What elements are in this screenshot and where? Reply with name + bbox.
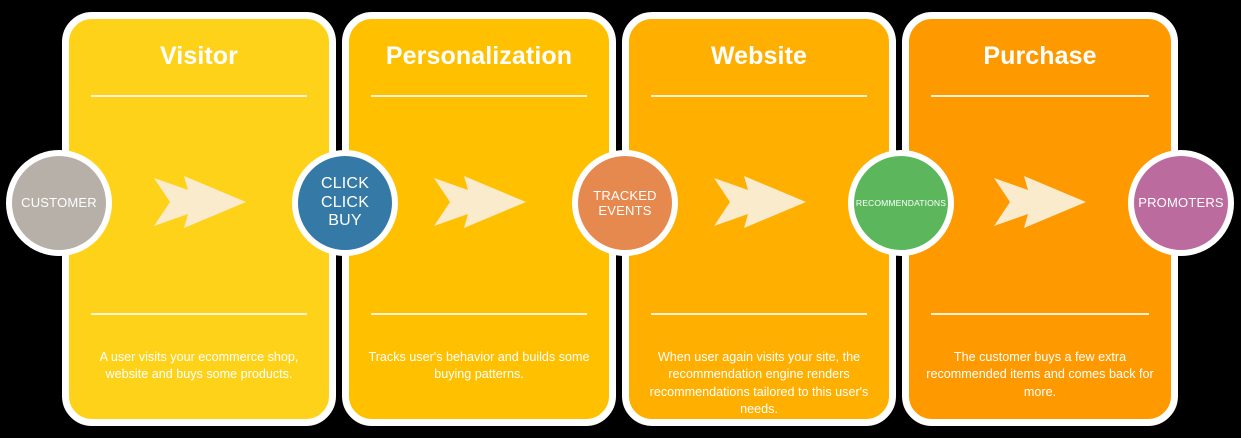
panel-description: When user again visits your site, the re… bbox=[641, 349, 877, 419]
node-label: PROMOTERS bbox=[1134, 195, 1228, 210]
flow-arrow-icon bbox=[148, 166, 252, 238]
panel-description: A user visits your ecommerce shop, websi… bbox=[81, 349, 317, 384]
divider-top bbox=[371, 95, 587, 97]
panel-title: Purchase bbox=[909, 43, 1171, 71]
divider-top bbox=[931, 95, 1149, 97]
divider-bottom bbox=[931, 313, 1149, 315]
node-label: TRACKED EVENTS bbox=[578, 188, 672, 219]
flow-arrow-icon bbox=[708, 166, 812, 238]
panel-title: Website bbox=[629, 43, 889, 71]
divider-bottom bbox=[371, 313, 587, 315]
flow-arrow-icon bbox=[988, 166, 1092, 238]
node-tracked-events: TRACKED EVENTS bbox=[572, 150, 678, 256]
node-label: RECOMMENDATIONS bbox=[854, 198, 948, 208]
node-label: CLICK CLICK BUY bbox=[298, 175, 392, 232]
diagram-canvas: Visitor A user visits your ecommerce sho… bbox=[0, 0, 1241, 438]
panel-title: Visitor bbox=[69, 43, 329, 71]
node-customer: CUSTOMER bbox=[6, 150, 112, 256]
panel-description: The customer buys a few extra recommende… bbox=[921, 349, 1159, 401]
panel-description: Tracks user's behavior and builds some b… bbox=[361, 349, 597, 384]
node-promoters: PROMOTERS bbox=[1128, 150, 1234, 256]
node-click-click-buy: CLICK CLICK BUY bbox=[292, 150, 398, 256]
panel-title: Personalization bbox=[349, 43, 609, 71]
divider-top bbox=[651, 95, 867, 97]
flow-arrow-icon bbox=[428, 166, 532, 238]
divider-bottom bbox=[651, 313, 867, 315]
divider-top bbox=[91, 95, 307, 97]
node-label: CUSTOMER bbox=[12, 195, 106, 210]
node-recommendations: RECOMMENDATIONS bbox=[848, 150, 954, 256]
divider-bottom bbox=[91, 313, 307, 315]
